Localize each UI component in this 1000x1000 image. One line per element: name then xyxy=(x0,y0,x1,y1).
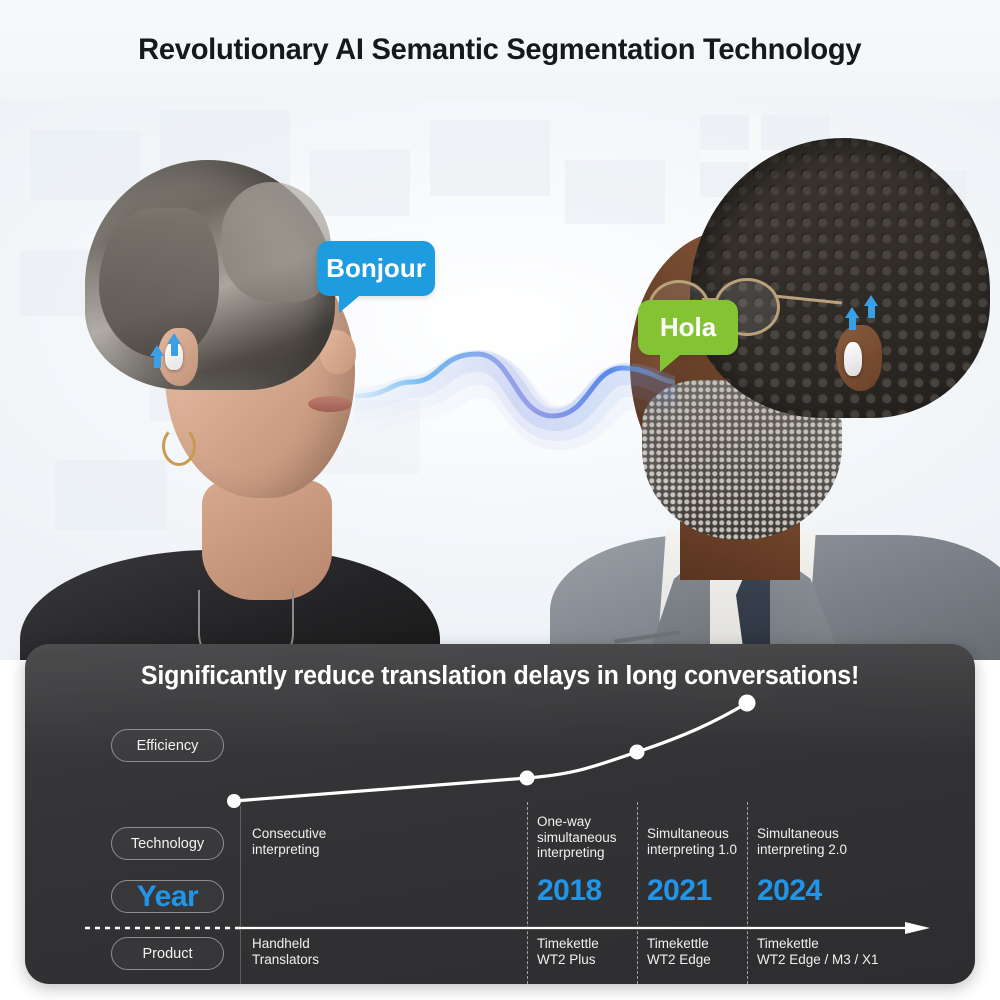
evolution-panel: Significantly reduce translation delays … xyxy=(25,644,975,984)
chart-point-1 xyxy=(227,794,241,808)
speech-bubble-hola-text: Hola xyxy=(660,312,716,343)
efficiency-curve xyxy=(234,703,747,801)
product-cell-1: HandheldTranslators xyxy=(252,936,412,968)
sound-wave-graphic xyxy=(355,330,675,450)
row-label-technology[interactable]: Technology xyxy=(111,827,224,860)
product-cell-3: TimekettleWT2 Edge xyxy=(647,936,747,968)
row-label-efficiency-text: Efficiency xyxy=(137,738,199,754)
poster-canvas: Revolutionary AI Semantic Segmentation T… xyxy=(0,0,1000,1000)
technology-cell-4: Simultaneousinterpreting 2.0 xyxy=(757,826,877,857)
row-label-technology-text: Technology xyxy=(131,836,204,852)
timeline-arrowhead xyxy=(905,922,930,934)
technology-cell-2: One-waysimultaneousinterpreting xyxy=(537,814,637,861)
row-label-product[interactable]: Product xyxy=(111,937,224,970)
label-column-divider xyxy=(240,806,241,984)
woman-neck xyxy=(202,480,332,600)
chart-point-2 xyxy=(520,771,535,786)
year-cell-2018: 2018 xyxy=(537,874,602,908)
panel-title: Significantly reduce translation delays … xyxy=(35,662,966,691)
row-label-efficiency[interactable]: Efficiency xyxy=(111,729,224,762)
column-divider-1 xyxy=(527,802,528,984)
woman-earring xyxy=(162,426,196,466)
row-label-year-text: Year xyxy=(137,880,198,914)
column-divider-3 xyxy=(747,802,748,984)
technology-cell-1: Consecutiveinterpreting xyxy=(252,826,402,857)
technology-cell-3: Simultaneousinterpreting 1.0 xyxy=(647,826,747,857)
year-cell-2021: 2021 xyxy=(647,874,712,908)
timeline-arrow xyxy=(85,921,930,933)
woman-hair xyxy=(85,160,335,390)
speech-bubble-tail xyxy=(660,350,686,372)
column-divider-2 xyxy=(637,802,638,984)
chart-point-4 xyxy=(739,695,756,712)
speech-bubble-tail xyxy=(339,291,365,313)
man-earbud xyxy=(844,342,862,376)
page-title: Revolutionary AI Semantic Segmentation T… xyxy=(138,33,861,67)
product-cell-2: TimekettleWT2 Plus xyxy=(537,936,637,968)
speech-bubble-bonjour-text: Bonjour xyxy=(326,253,426,284)
chart-point-3 xyxy=(630,745,645,760)
speech-bubble-hola: Hola xyxy=(638,300,738,355)
year-cell-2024: 2024 xyxy=(757,874,822,908)
hero-stage: Bonjour Hola xyxy=(0,100,1000,660)
woman-lips xyxy=(308,396,352,412)
product-cell-4: TimekettleWT2 Edge / M3 / X1 xyxy=(757,936,937,968)
row-label-product-text: Product xyxy=(143,946,193,962)
speech-bubble-bonjour: Bonjour xyxy=(317,241,435,296)
poster-header: Revolutionary AI Semantic Segmentation T… xyxy=(0,0,1000,100)
row-label-year[interactable]: Year xyxy=(111,880,224,913)
